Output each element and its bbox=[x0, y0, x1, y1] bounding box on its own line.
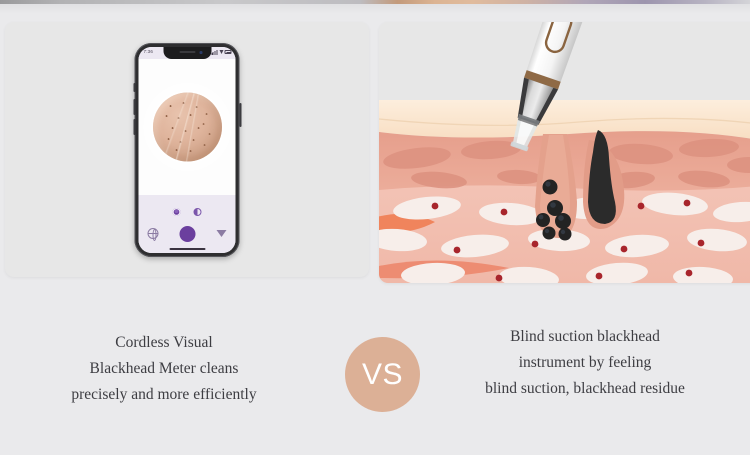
caption-right: Blind suction blackhead instrument by fe… bbox=[435, 324, 735, 402]
notch bbox=[163, 47, 211, 59]
caption-left: Cordless Visual Blackhead Meter cleans p… bbox=[14, 330, 314, 408]
right-product-panel bbox=[379, 22, 750, 283]
volume-down-button-icon bbox=[133, 119, 135, 135]
front-camera-icon bbox=[199, 51, 202, 54]
status-indicators bbox=[211, 50, 231, 55]
comparison-page: 7:36 bbox=[0, 0, 750, 455]
wifi-icon bbox=[219, 50, 223, 54]
caption-left-line1: Cordless Visual bbox=[14, 330, 314, 356]
caption-left-line2: Blackhead Meter cleans bbox=[14, 356, 314, 382]
left-product-panel: 7:36 bbox=[5, 22, 369, 277]
skin-cross-section-svg bbox=[379, 22, 750, 283]
caption-right-line1: Blind suction blackhead bbox=[435, 324, 735, 350]
power-button-icon bbox=[239, 103, 241, 127]
wifi-connect-icon[interactable] bbox=[217, 230, 227, 237]
caption-right-line2: instrument by feeling bbox=[435, 350, 735, 376]
home-indicator[interactable] bbox=[169, 248, 205, 250]
skin-cross-section-illustration bbox=[379, 22, 750, 283]
app-control-bar bbox=[139, 195, 236, 253]
battery-icon bbox=[225, 50, 232, 54]
vs-badge: VS bbox=[345, 337, 420, 412]
caption-right-line3: blind suction, blackhead residue bbox=[435, 376, 735, 402]
cellular-signal-icon bbox=[211, 50, 217, 55]
earpiece-speaker-icon bbox=[179, 51, 195, 53]
phone-screen: 7:36 bbox=[139, 47, 236, 253]
contrast-toggle-icon[interactable] bbox=[194, 208, 202, 216]
shutter-button[interactable] bbox=[180, 226, 196, 242]
magnified-skin-pores-image bbox=[153, 92, 222, 161]
skin-camera-view bbox=[139, 59, 236, 195]
globe-icon[interactable] bbox=[148, 228, 159, 239]
top-fade bbox=[0, 4, 750, 14]
mute-switch-icon bbox=[133, 83, 135, 92]
smartphone-mockup: 7:36 bbox=[135, 43, 240, 257]
caption-left-line3: precisely and more efficiently bbox=[14, 382, 314, 408]
mode-row bbox=[139, 208, 236, 216]
volume-up-button-icon bbox=[133, 99, 135, 115]
status-clock: 7:36 bbox=[144, 49, 154, 54]
pore-mode-icon[interactable] bbox=[173, 208, 181, 216]
action-row bbox=[139, 226, 236, 242]
